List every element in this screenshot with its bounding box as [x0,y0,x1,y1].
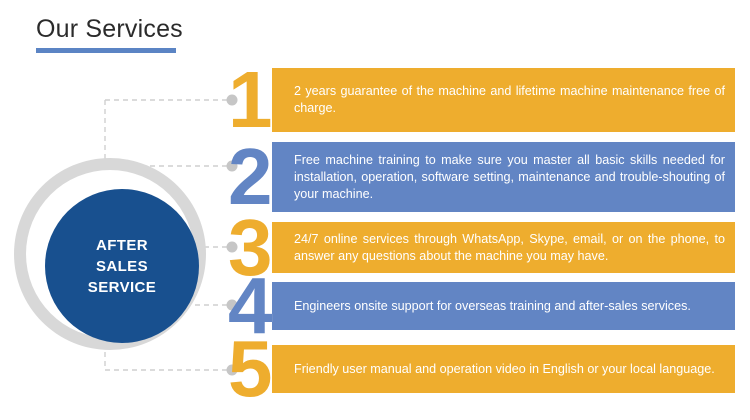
service-text-4: Engineers onsite support for overseas tr… [294,298,725,315]
service-text-wrap-2: Free machine training to make sure you m… [294,142,725,212]
badge-line-3: SERVICE [88,277,156,298]
service-text-wrap-5: Friendly user manual and operation video… [294,345,725,393]
page-title: Our Services [36,14,183,44]
infographic-canvas: Our Services AFTER SALES SERVICE [0,0,750,420]
badge-inner-gap: AFTER SALES SERVICE [26,170,194,338]
service-text-3: 24/7 online services through WhatsApp, S… [294,231,725,265]
service-text-wrap-4: Engineers onsite support for overseas tr… [294,282,725,330]
badge-line-1: AFTER [96,235,148,256]
service-item-3[interactable]: 3 3 24/7 online services through WhatsAp… [272,222,735,273]
service-text-1: 2 years guarantee of the machine and lif… [294,83,725,117]
connector-dot-3 [227,242,238,253]
title-underline [36,48,176,53]
page-header: Our Services [36,14,183,53]
service-item-4[interactable]: 4 4 Engineers onsite support for oversea… [272,282,735,330]
connector-dot-5 [227,365,238,376]
badge-core: AFTER SALES SERVICE [45,189,199,343]
service-text-wrap-3: 24/7 online services through WhatsApp, S… [294,222,725,273]
service-item-2[interactable]: 2 2 Free machine training to make sure y… [272,142,735,212]
service-item-5[interactable]: 5 5 Friendly user manual and operation v… [272,345,735,393]
after-sales-service-badge: AFTER SALES SERVICE [14,158,206,350]
service-text-2: Free machine training to make sure you m… [294,152,725,203]
connector-dot-1 [227,95,238,106]
connector-dot-4 [227,300,238,311]
service-text-wrap-1: 2 years guarantee of the machine and lif… [294,68,725,132]
connector-dot-2 [227,161,238,172]
badge-line-2: SALES [96,256,148,277]
service-item-1[interactable]: 1 1 2 years guarantee of the machine and… [272,68,735,132]
service-text-5: Friendly user manual and operation video… [294,361,725,378]
